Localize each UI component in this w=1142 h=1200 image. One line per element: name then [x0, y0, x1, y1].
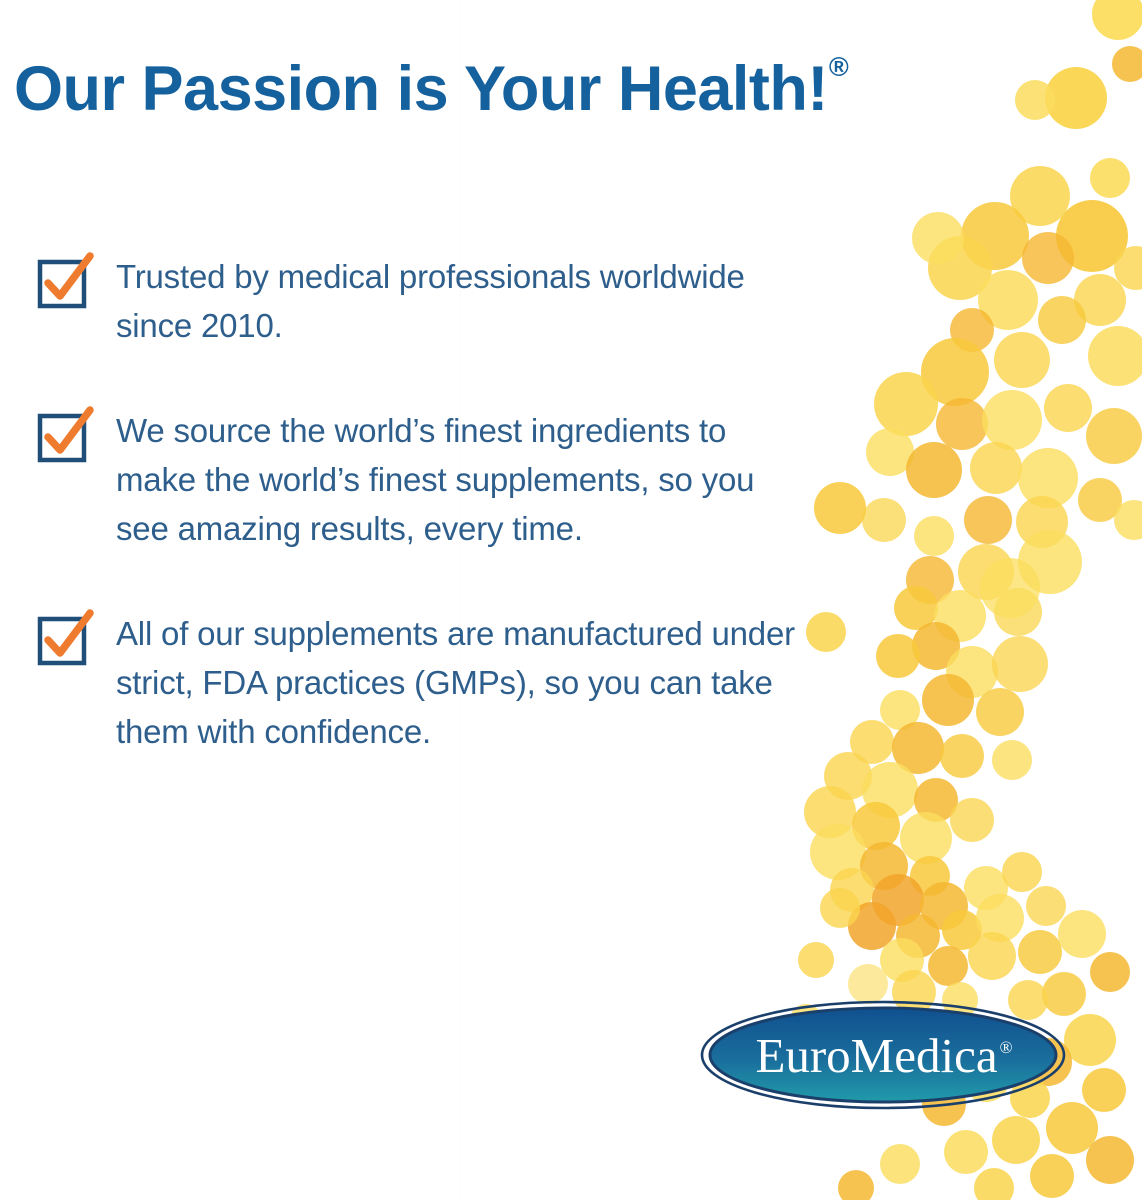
bubble — [798, 942, 834, 978]
bubble — [964, 866, 1008, 910]
list-item: All of our supplements are manufactured … — [36, 609, 806, 756]
bubble — [866, 428, 914, 476]
bubble — [1038, 296, 1086, 344]
bubble — [922, 674, 974, 726]
bubble — [848, 902, 896, 950]
bubble — [1112, 46, 1142, 82]
bubble — [1082, 1068, 1126, 1112]
bubble — [906, 442, 962, 498]
page-title-text: Our Passion is Your Health! — [14, 54, 828, 124]
bubble — [980, 558, 1040, 618]
list-item-label: All of our supplements are manufactured … — [116, 609, 806, 756]
bubble — [900, 812, 952, 864]
bubble — [1090, 952, 1130, 992]
bubble — [1026, 886, 1066, 926]
bubble — [961, 202, 1029, 270]
bubble — [860, 842, 908, 890]
bubble — [1044, 384, 1092, 432]
list-item-label: Trusted by medical professionals worldwi… — [116, 252, 806, 350]
bubble — [994, 332, 1050, 388]
bubble — [950, 798, 994, 842]
bubble — [946, 646, 998, 698]
bubble — [824, 752, 872, 800]
bubble — [976, 688, 1024, 736]
bubble — [912, 622, 960, 670]
bubble — [820, 888, 860, 928]
bubble — [994, 588, 1042, 636]
bubble — [964, 496, 1012, 544]
bubble — [830, 868, 874, 912]
bubble — [1022, 232, 1074, 284]
bubble — [1018, 930, 1062, 974]
bubble — [814, 482, 866, 534]
checkbox-checked-icon — [36, 412, 94, 470]
bubble — [874, 372, 938, 436]
bubble — [1030, 1154, 1074, 1198]
logo-wordmark: EuroMedica® — [700, 1000, 1066, 1110]
bubble — [906, 556, 954, 604]
bubble — [976, 894, 1024, 942]
registered-trademark-icon: ® — [1000, 1038, 1013, 1058]
bubble — [921, 338, 989, 406]
bubble — [1064, 1014, 1116, 1066]
bubble — [992, 1116, 1040, 1164]
bubble — [852, 802, 900, 850]
bubble — [872, 874, 924, 926]
bubble — [838, 1170, 874, 1200]
bubble — [1088, 326, 1142, 386]
bubble — [850, 720, 894, 764]
bubble — [804, 786, 856, 838]
bubble — [1018, 448, 1078, 508]
bubble — [970, 442, 1022, 494]
euromedica-logo: EuroMedica® — [700, 1000, 1066, 1110]
bubble — [1056, 200, 1128, 272]
logo-name-text: EuroMedica — [755, 1027, 997, 1084]
bubble — [912, 212, 964, 264]
bubble — [992, 740, 1032, 780]
bubble — [968, 932, 1016, 980]
bubble — [1090, 158, 1130, 198]
list-item-label: We source the world’s finest ingredients… — [116, 406, 806, 553]
bubble — [920, 882, 968, 930]
bubble — [1058, 910, 1106, 958]
bubble — [1092, 0, 1142, 40]
bubble — [894, 586, 938, 630]
bubble — [806, 612, 846, 652]
bubble — [1018, 530, 1082, 594]
bubble — [982, 390, 1042, 450]
bubble — [1078, 478, 1122, 522]
bubble — [880, 690, 920, 730]
bubble — [880, 938, 924, 982]
checkbox-checked-icon — [36, 615, 94, 673]
bubble — [928, 946, 968, 986]
list-item: Trusted by medical professionals worldwi… — [36, 252, 806, 350]
list-item: We source the world’s finest ingredients… — [36, 406, 806, 553]
bubble — [896, 914, 940, 958]
page-title: Our Passion is Your Health!® — [14, 58, 1034, 121]
bubble — [1114, 500, 1142, 540]
bubble — [1016, 496, 1068, 548]
registered-trademark-icon: ® — [829, 52, 848, 82]
bubble — [1010, 166, 1070, 226]
benefits-checklist: Trusted by medical professionals worldwi… — [36, 252, 806, 756]
bubble — [934, 590, 986, 642]
bubble — [892, 722, 944, 774]
bubble — [1086, 408, 1142, 464]
bubble — [848, 964, 888, 1004]
bubble — [1074, 274, 1126, 326]
bubble — [942, 910, 982, 950]
bubble — [862, 762, 918, 818]
bubble — [1086, 1136, 1134, 1184]
bubble — [936, 398, 988, 450]
bubble — [914, 516, 954, 556]
bubble — [1002, 852, 1042, 892]
promotional-poster: Our Passion is Your Health!® Trusted by … — [0, 0, 1142, 1200]
bubble — [876, 634, 920, 678]
bubble — [910, 856, 950, 896]
bubble — [928, 236, 992, 300]
bubble — [958, 544, 1014, 600]
bubble — [880, 1144, 920, 1184]
bubble — [810, 824, 866, 880]
bubble — [992, 636, 1048, 692]
bubble — [914, 778, 958, 822]
bubble — [1045, 67, 1107, 129]
checkbox-checked-icon — [36, 258, 94, 316]
bubble — [974, 1168, 1014, 1200]
bubble — [1114, 246, 1142, 290]
bubble — [940, 734, 984, 778]
bubble — [950, 308, 994, 352]
bubble — [944, 1130, 988, 1174]
bubble — [862, 498, 906, 542]
bubble — [978, 270, 1038, 330]
